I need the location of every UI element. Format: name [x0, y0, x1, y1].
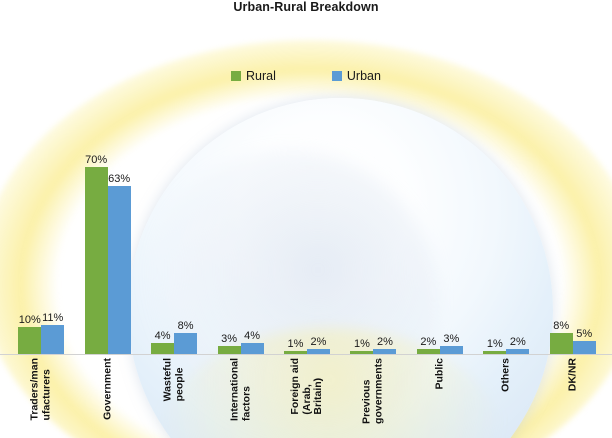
bar-pair: 8%5% — [550, 333, 596, 354]
bar-value-label: 2% — [377, 336, 393, 348]
bar-group: 2%3% — [407, 0, 473, 354]
category-cell: Foreign aid(Arab,Britain) — [274, 356, 340, 438]
bar-group: 1%2% — [340, 0, 406, 354]
bar-value-label: 2% — [311, 336, 327, 348]
category-cell: Others — [473, 356, 539, 438]
category-label-line: International — [229, 358, 241, 421]
bar-group: 1%2% — [274, 0, 340, 354]
bar-value-label: 3% — [221, 333, 237, 345]
category-label: Traders/manufacturers — [30, 358, 53, 420]
bar-urban[interactable]: 5% — [573, 341, 596, 354]
bar-value-label: 63% — [108, 173, 130, 185]
axis-baseline — [0, 354, 612, 355]
category-cell: DK/NR — [540, 356, 606, 438]
category-label: Foreign aid(Arab,Britain) — [290, 358, 325, 415]
bar-rural[interactable]: 3% — [218, 346, 241, 354]
bar-rural[interactable]: 10% — [18, 327, 41, 354]
bar-group: 10%11% — [8, 0, 74, 354]
category-label-line: factors — [241, 358, 253, 421]
bar-rural[interactable]: 70% — [85, 167, 108, 354]
bar-group: 1%2% — [473, 0, 539, 354]
category-label-line: Others — [501, 358, 513, 392]
bar-urban[interactable]: 8% — [174, 333, 197, 354]
bar-group: 4%8% — [141, 0, 207, 354]
bar-group: 70%63% — [74, 0, 140, 354]
bar-value-label: 8% — [553, 320, 569, 332]
bar-value-label: 2% — [510, 336, 526, 348]
bar-value-label: 70% — [85, 154, 107, 166]
category-label: Internationalfactors — [229, 358, 252, 421]
category-label: Wastefulpeople — [163, 358, 186, 401]
bar-rural[interactable]: 8% — [550, 333, 573, 354]
category-label-line: Government — [102, 358, 114, 420]
category-label-line: governments — [373, 358, 385, 424]
bar-urban[interactable]: 4% — [241, 343, 264, 354]
plot-area: 10%11%70%63%4%8%3%4%1%2%1%2%2%3%1%2%8%5% — [0, 0, 612, 354]
bar-groups: 10%11%70%63%4%8%3%4%1%2%1%2%2%3%1%2%8%5% — [8, 0, 606, 354]
category-cell: Internationalfactors — [207, 356, 273, 438]
chart-container: Urban-Rural Breakdown RuralUrban 10%11%7… — [0, 0, 612, 438]
bar-pair: 4%8% — [151, 333, 197, 354]
category-label-line: people — [174, 358, 186, 401]
bar-pair: 70%63% — [85, 167, 131, 354]
bar-value-label: 4% — [155, 330, 171, 342]
bar-urban[interactable]: 3% — [440, 346, 463, 354]
bar-urban[interactable]: 63% — [108, 186, 131, 354]
bar-urban[interactable]: 11% — [41, 325, 64, 354]
bar-pair: 3%4% — [218, 343, 264, 354]
category-label-line: Britain) — [313, 358, 325, 415]
category-label-line: Public — [434, 358, 446, 390]
category-label-line: Traders/man — [30, 358, 42, 420]
category-label: Others — [501, 358, 513, 392]
category-cell: Previousgovernments — [340, 356, 406, 438]
bar-value-label: 4% — [244, 330, 260, 342]
category-label: Previousgovernments — [362, 358, 385, 424]
category-label-line: DK/NR — [567, 358, 579, 391]
category-label: Public — [434, 358, 446, 390]
bar-pair: 10%11% — [18, 325, 64, 354]
bar-rural[interactable]: 4% — [151, 343, 174, 354]
bar-group: 3%4% — [207, 0, 273, 354]
bar-group: 8%5% — [540, 0, 606, 354]
bar-value-label: 8% — [178, 320, 194, 332]
bar-value-label: 3% — [443, 333, 459, 345]
bar-value-label: 1% — [354, 338, 370, 350]
category-label: DK/NR — [567, 358, 579, 391]
category-label-line: Wasteful — [163, 358, 175, 401]
category-label: Government — [102, 358, 114, 420]
bar-value-label: 1% — [288, 338, 304, 350]
category-axis: Traders/manufacturersGovernmentWastefulp… — [8, 356, 606, 438]
bar-pair: 2%3% — [417, 346, 463, 354]
bar-value-label: 1% — [487, 338, 503, 350]
category-cell: Traders/manufacturers — [8, 356, 74, 438]
category-cell: Government — [74, 356, 140, 438]
category-label-line: ufacturers — [41, 358, 53, 420]
category-label-line: Foreign aid — [290, 358, 302, 415]
category-cell: Public — [407, 356, 473, 438]
bar-value-label: 5% — [576, 328, 592, 340]
bar-value-label: 10% — [19, 314, 41, 326]
category-cell: Wastefulpeople — [141, 356, 207, 438]
bar-value-label: 11% — [42, 312, 63, 324]
bar-value-label: 2% — [420, 336, 436, 348]
